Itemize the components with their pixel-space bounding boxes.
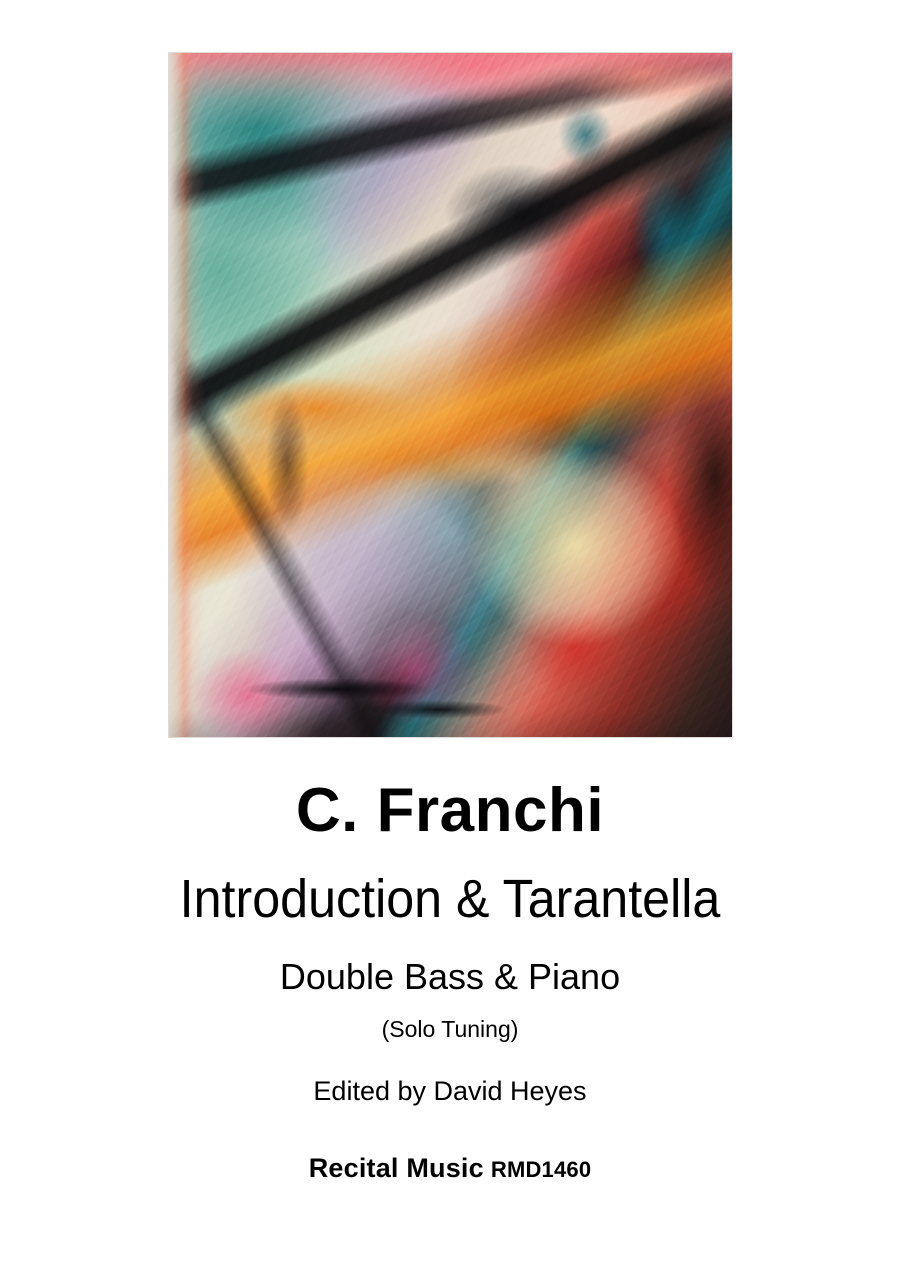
title-block: C. Franchi Introduction & Tarantella Dou…	[0, 780, 900, 1182]
catalog-number: RMD1460	[491, 1157, 591, 1182]
composer-name: C. Franchi	[0, 780, 900, 842]
tuning-note: (Solo Tuning)	[0, 1018, 900, 1041]
work-title: Introduction & Tarantella	[32, 872, 869, 926]
cover-artwork	[169, 53, 732, 737]
artwork-layer-vignette	[169, 53, 732, 737]
instrumentation: Double Bass & Piano	[0, 959, 900, 995]
publisher-line: Recital MusicRMD1460	[0, 1155, 900, 1182]
editor-credit: Edited by David Heyes	[0, 1078, 900, 1105]
publisher-name: Recital Music	[309, 1153, 484, 1183]
